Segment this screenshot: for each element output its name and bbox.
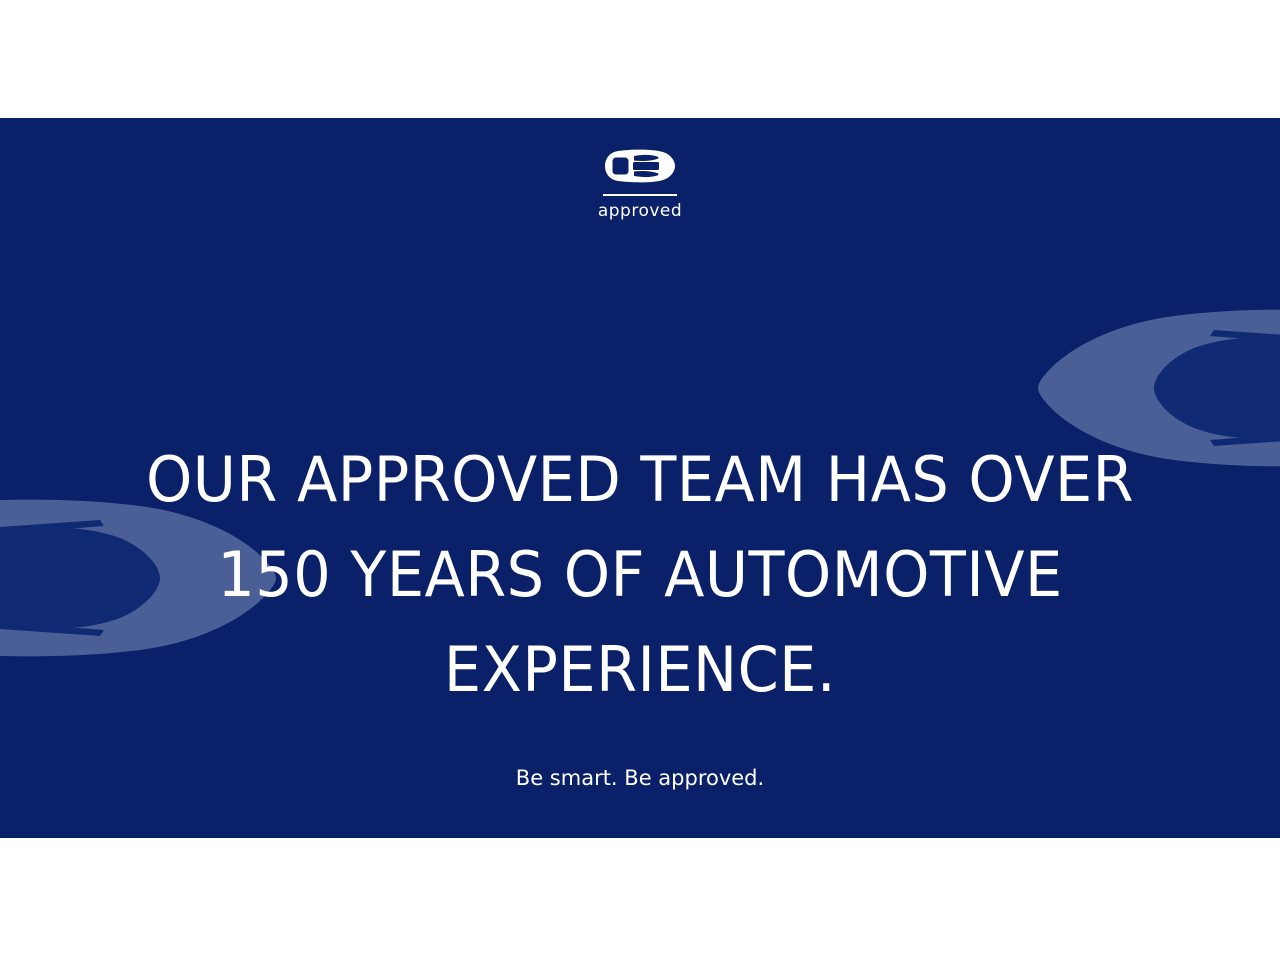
tagline: Be smart. Be approved. <box>0 766 1280 790</box>
headline: OUR APPROVED TEAM HAS OVER 150 YEARS OF … <box>32 432 1248 717</box>
promo-banner: approved OUR APPROVED TEAM HAS OVER 150 … <box>0 118 1280 838</box>
headline-line-1: OUR APPROVED TEAM HAS OVER <box>32 432 1248 527</box>
page-canvas: approved OUR APPROVED TEAM HAS OVER 150 … <box>0 0 1280 960</box>
headline-line-2: 150 YEARS OF AUTOMOTIVE <box>32 527 1248 622</box>
logo-divider-rule <box>603 194 677 196</box>
logo-wordmark: approved <box>0 201 1280 221</box>
headline-line-3: EXPERIENCE. <box>32 622 1248 717</box>
car-top-view-icon <box>603 148 677 184</box>
brand-logo: approved <box>0 148 1280 221</box>
